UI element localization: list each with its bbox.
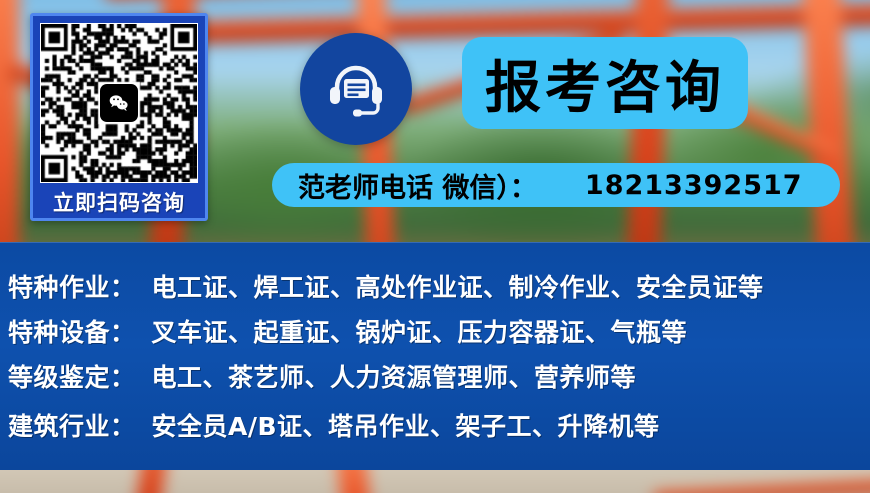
category-row-construction-industry: 建筑行业：安全员A/B证、塔吊作业、架子工、升降机等 bbox=[8, 407, 660, 443]
contact-phone-label: 范老师电话 微信）： bbox=[298, 166, 537, 205]
category-label: 等级鉴定： bbox=[8, 363, 136, 392]
wechat-icon bbox=[100, 84, 138, 122]
promo-poster: 特种作业：电工证、焊工证、高处作业证、制冷作业、安全员证等 特种设备：叉车证、起… bbox=[0, 0, 870, 493]
qr-code-card[interactable]: 立即扫码咨询 bbox=[30, 13, 208, 221]
category-label: 建筑行业： bbox=[8, 412, 136, 441]
qr-code-image[interactable] bbox=[40, 23, 198, 183]
category-label: 特种作业： bbox=[8, 273, 136, 302]
qr-caption: 立即扫码咨询 bbox=[40, 183, 198, 223]
category-items: 电工证、焊工证、高处作业证、制冷作业、安全员证等 bbox=[152, 273, 764, 302]
category-row-grade-certification: 等级鉴定：电工、茶艺师、人力资源管理师、营养师等 bbox=[8, 358, 636, 394]
contact-phone-bar[interactable]: 范老师电话 微信）： 18213392517 bbox=[272, 163, 840, 207]
category-label: 特种设备： bbox=[8, 318, 136, 347]
category-row-special-equipment: 特种设备：叉车证、起重证、锅炉证、压力容器证、气瓶等 bbox=[8, 313, 687, 349]
headset-support-icon bbox=[300, 33, 412, 145]
page-title: 报考咨询 bbox=[462, 37, 748, 129]
contact-phone-number: 18213392517 bbox=[585, 170, 803, 201]
category-items: 电工、茶艺师、人力资源管理师、营养师等 bbox=[152, 363, 637, 392]
category-items: 安全员A/B证、塔吊作业、架子工、升降机等 bbox=[152, 412, 660, 441]
category-row-special-operations: 特种作业：电工证、焊工证、高处作业证、制冷作业、安全员证等 bbox=[8, 268, 764, 304]
category-items: 叉车证、起重证、锅炉证、压力容器证、气瓶等 bbox=[152, 318, 688, 347]
